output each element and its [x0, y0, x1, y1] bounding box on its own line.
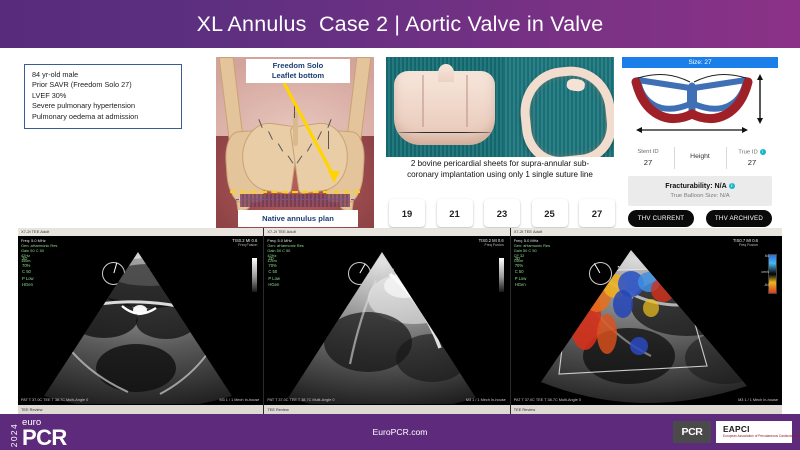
echo-footer: TEE Review — [264, 405, 509, 414]
slide-header: XL Annulus Case 2 | Aortic Valve in Valv… — [0, 0, 800, 48]
metric-value: 27 — [644, 158, 652, 167]
valve-photo-front — [386, 57, 503, 157]
valve-photo-caption: 2 bovine pericardial sheets for supra-an… — [386, 157, 614, 181]
eapci-badge: EAPCI European Association of Percutaneo… — [716, 421, 792, 443]
echo-footer-text: TEE Review — [18, 405, 263, 414]
echo-topbar: X7-2t TEE Adult — [511, 228, 782, 236]
size-option-23[interactable]: 23 — [484, 199, 520, 227]
pericardial-valve-ring — [516, 62, 614, 157]
europcr-logo: 2024 euro PCR — [9, 418, 67, 448]
eapci-name: EAPCI — [723, 425, 800, 433]
true-balloon-size-label: True Balloon Size: N/A — [630, 193, 770, 199]
ultrasound-sector-image — [511, 246, 782, 404]
fracturability-label: Fracturability: N/Ai — [630, 182, 770, 190]
freedom-solo-label: Freedom Solo Leaflet bottom — [246, 59, 350, 83]
presentation-slide: XL Annulus Case 2 | Aortic Valve in Valv… — [0, 0, 800, 450]
aortic-root-diagram: Freedom Solo Leaflet bottom Native annul… — [216, 57, 374, 229]
page-title: XL Annulus Case 2 | Aortic Valve in Valv… — [197, 12, 604, 37]
viv-button-row[interactable]: THV CURRENT THV ARCHIVED — [622, 210, 778, 227]
metric-value: 27 — [748, 158, 756, 167]
footer-pcr-word: PCR — [22, 428, 67, 448]
echo-topbar-text: X7-2t TEE Adult — [511, 228, 782, 236]
patient-line: Pulmonary oedema at admission — [32, 112, 175, 122]
echo-footer-text: TEE Review — [511, 405, 782, 414]
footer-logos: PCR EAPCI European Association of Percut… — [673, 421, 792, 443]
valve-size-selector[interactable]: 19 21 23 25 27 — [389, 198, 615, 228]
valve-photographs — [386, 57, 614, 157]
caption-line-1: 2 bovine pericardial sheets for supra-an… — [386, 159, 614, 170]
eapci-text: EAPCI European Association of Percutaneo… — [723, 425, 800, 438]
echo-bottom-right-text: M3 1 / 1 Mech In-house — [466, 398, 506, 403]
size-option-27[interactable]: 27 — [579, 199, 615, 227]
echo-topbar: X7-2t TEE Adult — [264, 228, 509, 236]
native-annulus-label: Native annulus plan — [238, 210, 358, 227]
metric-true-id: True IDi 27 — [726, 142, 778, 174]
valve-commissure-peak — [438, 64, 454, 82]
thv-archived-button[interactable]: THV ARCHIVED — [706, 210, 772, 227]
pericardial-valve-crown — [394, 71, 495, 145]
valve-notch — [422, 75, 424, 127]
caption-line-2: coronary implantation using only 1 singl… — [386, 170, 614, 181]
echo-panel-tee-long-axis[interactable]: X7-2t TEE Adult Freq: 5.0 MHz Gen: aHarm… — [18, 228, 263, 414]
footer-year: 2024 — [9, 423, 19, 447]
patient-info-box: 84 yr-old male Prior SAVR (Freedom Solo … — [24, 64, 182, 129]
stent-frame-band — [240, 194, 350, 207]
freedom-solo-label-line1: Freedom Solo — [248, 61, 348, 71]
metric-label: Height — [690, 153, 710, 160]
echo-panel-tee-short-axis[interactable]: X7-2t TEE Adult Freq: 5.0 MHz Gen: aHarm… — [264, 228, 509, 414]
echo-topbar: X7-2t TEE Adult — [18, 228, 263, 236]
suture-tick — [328, 131, 329, 149]
metric-stent-id: Stent ID 27 — [622, 142, 674, 174]
echo-footer-text: TEE Review — [264, 405, 509, 414]
metric-height: Height — [674, 142, 726, 174]
single-suture-line — [398, 132, 491, 133]
eapci-subtitle: European Association of Percutaneous Car… — [723, 435, 800, 438]
echo-panel-color-doppler[interactable]: X7-2t TEE Adult Freq: 5.0 MHz Gen: aHarm… — [511, 228, 782, 414]
metric-label: True IDi — [738, 149, 765, 156]
patient-line: LVEF 30% — [32, 91, 175, 101]
fracturability-box: Fracturability: N/Ai True Balloon Size: … — [628, 176, 772, 206]
valve-ring-fold — [566, 78, 585, 92]
size-option-19[interactable]: 19 — [389, 199, 425, 227]
size-option-21[interactable]: 21 — [437, 199, 473, 227]
freedom-solo-label-line2: Leaflet bottom — [248, 71, 348, 81]
stent-schematic-icon — [628, 70, 772, 140]
viv-valve-schematic — [622, 68, 778, 142]
patient-line: Severe pulmonary hypertension — [32, 101, 175, 111]
metric-label: Stent ID — [637, 149, 658, 155]
info-icon[interactable]: i — [760, 149, 766, 155]
suture-tick — [294, 105, 295, 118]
slide-footer: EuroPCR.com 2024 euro PCR PCR EAPCI Euro… — [0, 414, 800, 450]
thv-current-button[interactable]: THV CURRENT — [628, 210, 694, 227]
echo-bottom-left-text: PAT T 37.0C TEE T 38.7C Multi-Angle 0 — [514, 398, 581, 403]
valve-notch — [466, 75, 468, 127]
info-icon[interactable]: i — [729, 183, 735, 189]
echo-bottom-left-text: PAT T 37.0C TEE T 38.7C Multi-Angle 0 — [267, 398, 334, 403]
echo-topbar-text: X7-2t TEE Adult — [264, 228, 509, 236]
viv-size-header: Size: 27 — [622, 57, 778, 68]
patient-line: Prior SAVR (Freedom Solo 27) — [32, 80, 175, 90]
stent-plane-line — [236, 199, 354, 200]
echo-topbar-text: X7-2t TEE Adult — [18, 228, 263, 236]
echo-bottom-right-text: M3 1 / 1 Mech In-house — [219, 398, 259, 403]
valve-photo-top — [503, 57, 614, 157]
patient-line: 84 yr-old male — [32, 70, 175, 80]
echo-footer: TEE Review — [18, 405, 263, 414]
viv-metrics-row: Stent ID 27 Height True IDi 27 — [622, 142, 778, 174]
annulus-plane-line — [230, 191, 360, 193]
echo-bottom-left-text: PAT T 37.0C TEE T 38.7C Multi-Angle 0 — [21, 398, 88, 403]
echo-footer: TEE Review — [511, 405, 782, 414]
size-option-25[interactable]: 25 — [532, 199, 568, 227]
echo-bottom-right-text: M3 1 / 1 Mech In-house — [738, 398, 778, 403]
ultrasound-sector-image — [18, 246, 263, 404]
echocardiography-strip: X7-2t TEE Adult Freq: 5.0 MHz Gen: aHarm… — [18, 228, 782, 414]
pcr-badge: PCR — [673, 421, 711, 443]
valve-in-valve-app-panel: Size: 27 Stent ID 27 — [622, 57, 778, 229]
ultrasound-sector-image — [264, 246, 509, 404]
